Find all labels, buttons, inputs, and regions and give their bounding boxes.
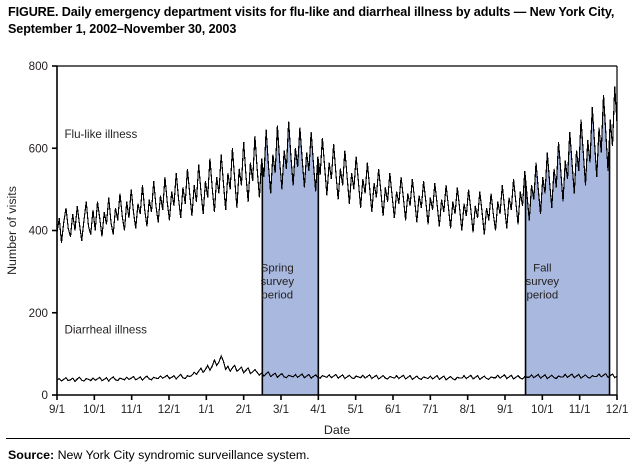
source-note: Source: New York City syndromic surveill…: [8, 447, 628, 463]
source-label: Source:: [8, 448, 54, 462]
x-tick-label-0: 9/1: [49, 403, 65, 416]
chart-plot-area: 02004006008009/110/111/112/11/12/13/14/1…: [0, 52, 636, 440]
y-axis-title: Number of visits: [5, 186, 19, 275]
y-tick-label-400: 400: [29, 225, 48, 238]
x-tick-label-13: 10/1: [531, 403, 554, 416]
spring-survey-band-label-line-0: Spring: [261, 263, 294, 275]
x-tick-label-15: 12/1: [606, 403, 629, 416]
x-tick-label-10: 7/1: [422, 403, 438, 416]
figure-title: FIGURE. Daily emergency department visit…: [8, 4, 628, 38]
x-tick-label-5: 2/1: [236, 403, 252, 416]
spring-survey-band-label-line-1: survey: [260, 276, 294, 288]
fall-survey-band-label-line-2: period: [526, 290, 558, 302]
y-tick-label-800: 800: [29, 60, 48, 73]
y-tick-label-0: 0: [42, 389, 48, 402]
y-tick-label-200: 200: [29, 307, 48, 320]
x-tick-label-9: 6/1: [385, 403, 401, 416]
x-tick-label-3: 12/1: [158, 403, 181, 416]
x-tick-label-6: 3/1: [273, 403, 289, 416]
flu-like-illness-label: Flu-like illness: [64, 128, 137, 141]
footer-divider: [6, 438, 630, 439]
x-tick-label-1: 10/1: [83, 403, 106, 416]
fall-survey-band-label-line-1: survey: [526, 276, 560, 288]
x-tick-label-11: 8/1: [460, 403, 476, 416]
x-tick-label-2: 11/1: [121, 403, 143, 416]
figure-root: FIGURE. Daily emergency department visit…: [0, 0, 636, 475]
x-tick-label-12: 9/1: [497, 403, 513, 416]
x-axis-title: Date: [324, 423, 350, 437]
y-tick-label-600: 600: [29, 142, 48, 155]
x-tick-label-14: 11/1: [569, 403, 591, 416]
chart-svg: 02004006008009/110/111/112/11/12/13/14/1…: [0, 52, 636, 440]
spring-survey-band-label-line-2: period: [261, 290, 293, 302]
x-ticks: 9/110/111/112/11/12/13/14/15/16/17/18/19…: [49, 395, 628, 416]
fall-survey-band-label-line-0: Fall: [533, 263, 551, 275]
x-tick-label-8: 5/1: [348, 403, 364, 416]
y-ticks: 0200400600800: [29, 60, 57, 402]
source-text: New York City syndromic surveillance sys…: [54, 448, 309, 462]
diarrheal-illness-label: Diarrheal illness: [64, 323, 147, 336]
x-tick-label-7: 4/1: [310, 403, 326, 416]
x-tick-label-4: 1/1: [198, 403, 214, 416]
